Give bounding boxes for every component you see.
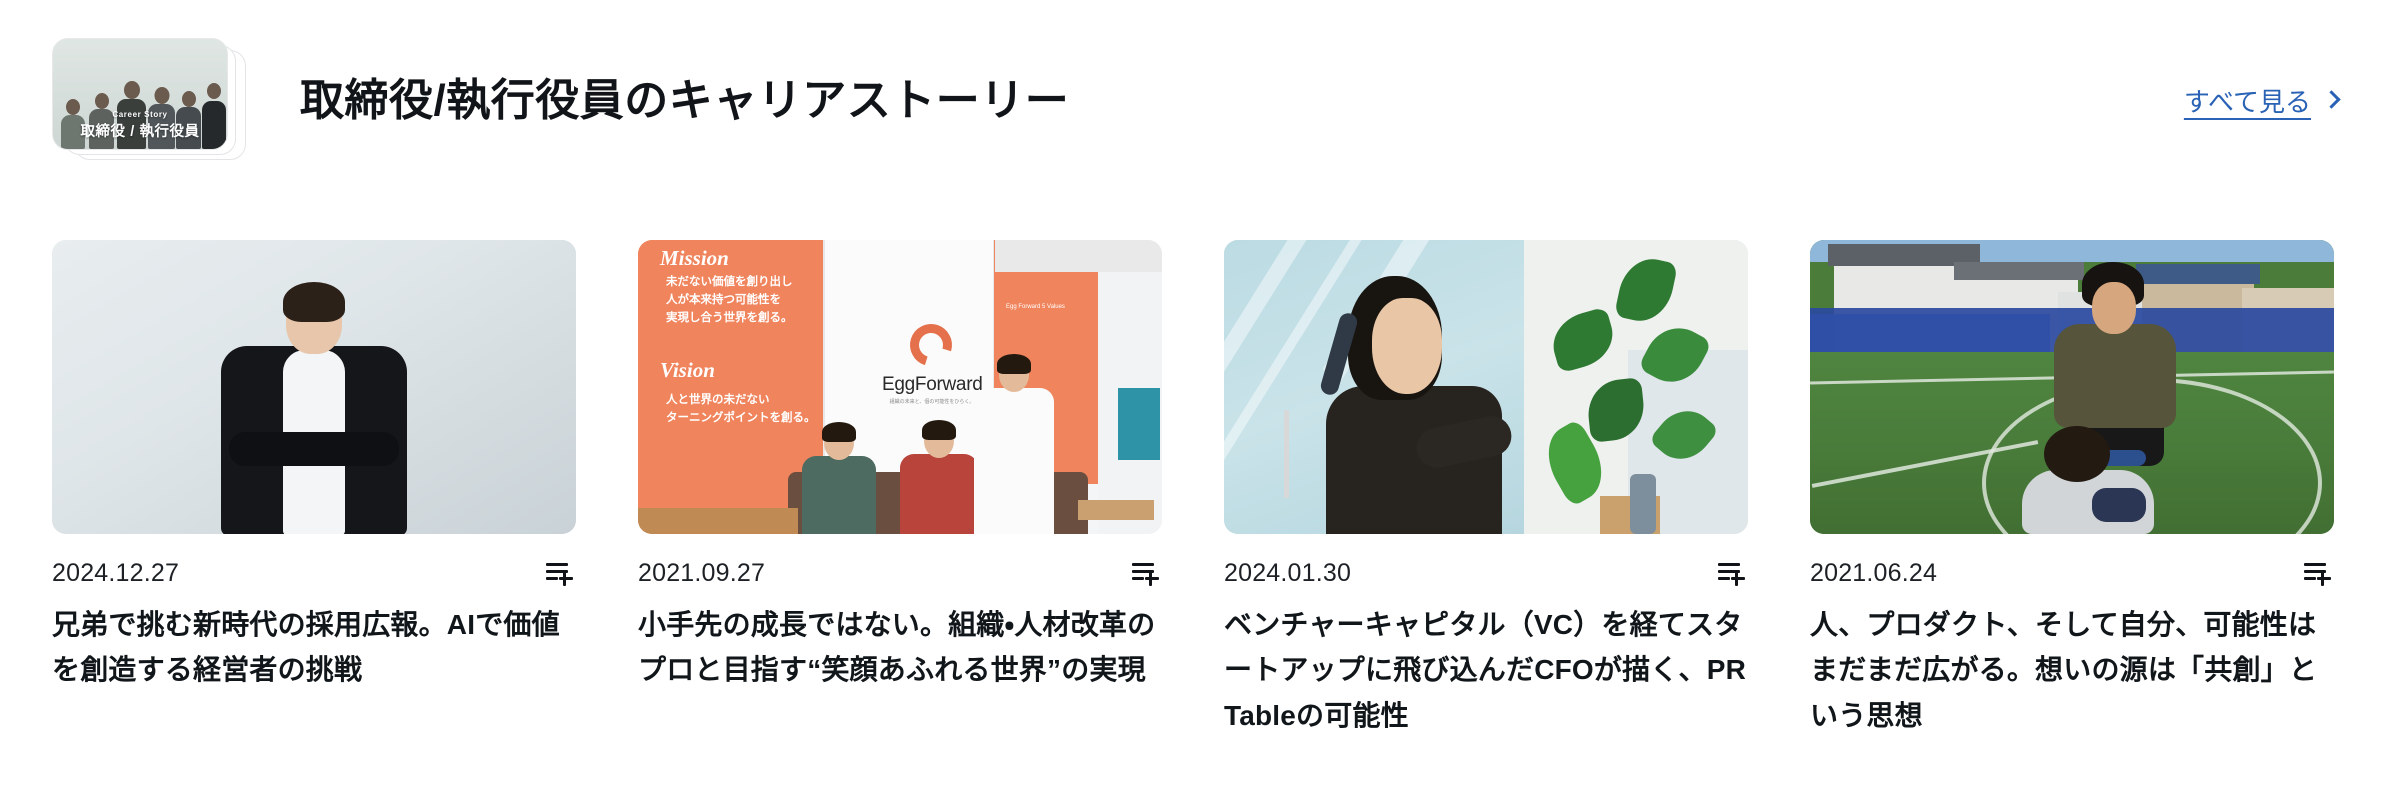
- values-label: Egg Forward 5 Values: [1006, 304, 1065, 310]
- article-title[interactable]: 人、プロダクト、そして自分、可能性はまだまだ広がる。想いの源は「共創」という思想: [1810, 602, 2334, 738]
- field-fence: [1810, 314, 2050, 356]
- article-card[interactable]: 2021.06.24 人、プロダクト、そして自分、可能性はまだまだ広がる。想いの…: [1810, 240, 2334, 738]
- thumbnail-label-left: 取締役: [81, 124, 126, 140]
- table-front: [638, 508, 798, 534]
- teal-panel: [1118, 388, 1160, 460]
- eggforward-logo-text: EggForward: [882, 374, 982, 396]
- article-thumbnail[interactable]: [1224, 240, 1748, 534]
- article-card[interactable]: 2024.12.27 兄弟で挑む新時代の採用広報。AIで価値を創造する経営者の挑…: [52, 240, 576, 738]
- article-card[interactable]: Mission 未だない価値を創り出し 人が本来持つ可能性を 実現し合う世界を創…: [638, 240, 1162, 738]
- article-meta: 2021.06.24: [1810, 558, 2334, 588]
- article-meta: 2024.12.27: [52, 558, 576, 588]
- chevron-right-icon: [2322, 90, 2340, 108]
- speaker-photo: [1224, 240, 1748, 534]
- soccer-field-photo: [1810, 240, 2334, 534]
- article-title[interactable]: 兄弟で挑む新時代の採用広報。AIで価値を創造する経営者の挑戦: [52, 602, 576, 693]
- vision-heading: Vision: [660, 358, 715, 383]
- see-all-link[interactable]: すべて見る: [2184, 82, 2338, 119]
- portrait-photo: [52, 240, 576, 534]
- toddler-figure: [2022, 426, 2154, 534]
- playlist-add-icon[interactable]: [1718, 561, 1748, 585]
- ceiling: [995, 240, 1162, 272]
- article-meta: 2021.09.27: [638, 558, 1162, 588]
- vision-body: 人と世界の未だない ターニングポイントを創る。: [666, 392, 816, 428]
- article-card-grid: 2024.12.27 兄弟で挑む新時代の採用広報。AIで価値を創造する経営者の挑…: [52, 240, 2338, 738]
- article-date: 2024.12.27: [52, 559, 179, 588]
- lanyard: [1284, 410, 1289, 498]
- section-thumbnail: Career Story 取締役/執行役員: [52, 38, 248, 162]
- page-title: 取締役/執行役員のキャリアストーリー: [300, 73, 1069, 128]
- person-figure: [900, 424, 978, 534]
- corridor: [1098, 240, 1162, 534]
- article-card[interactable]: 2024.01.30 ベンチャーキャピタル（VC）を経てスタートアップに飛び込ん…: [1224, 240, 1748, 738]
- arms-shape: [229, 432, 399, 466]
- podium-microphone: [1630, 474, 1656, 534]
- career-story-section: Career Story 取締役/執行役員 取締役/執行役員のキャリアストーリー…: [0, 0, 2390, 806]
- article-title[interactable]: ベンチャーキャピタル（VC）を経てスタートアップに飛び込んだCFOが描く、PR …: [1224, 602, 1748, 738]
- person-figure: [209, 282, 419, 534]
- thumbnail-eyebrow: Career Story: [53, 110, 227, 119]
- thumbnail-cover: Career Story 取締役/執行役員: [52, 38, 228, 150]
- thumbnail-caption: Career Story 取締役/執行役員: [53, 110, 227, 141]
- see-all-label: すべて見る: [2184, 82, 2311, 119]
- playlist-add-icon[interactable]: [546, 561, 576, 585]
- hair-shape: [283, 282, 345, 322]
- article-thumbnail[interactable]: Mission 未だない価値を創り出し 人が本来持つ可能性を 実現し合う世界を創…: [638, 240, 1162, 534]
- thumbnail-label-right: 執行役員: [140, 124, 200, 140]
- eggforward-logo-tagline: 組織の未来と、個の可能性をひらく。: [882, 398, 982, 405]
- table-right: [1078, 500, 1154, 520]
- article-thumbnail[interactable]: [1810, 240, 2334, 534]
- playlist-add-icon[interactable]: [1132, 561, 1162, 585]
- article-meta: 2024.01.30: [1224, 558, 1748, 588]
- article-date: 2021.06.24: [1810, 559, 1937, 588]
- thumbnail-label: 取締役/執行役員: [53, 120, 227, 141]
- article-title[interactable]: 小手先の成長ではない。組織・人材改革のプロと目指す“笑顔あふれる世界”の実現: [638, 602, 1162, 693]
- thumbnail-label-separator: /: [126, 124, 140, 140]
- mission-body: 未だない価値を創り出し 人が本来持つ可能性を 実現し合う世界を創る。: [666, 274, 793, 327]
- mission-heading: Mission: [660, 246, 729, 271]
- person-figure: [802, 426, 876, 534]
- office-photo: Mission 未だない価値を創り出し 人が本来持つ可能性を 実現し合う世界を創…: [638, 240, 1162, 534]
- person-figure: [974, 358, 1054, 534]
- section-header: Career Story 取締役/執行役員 取締役/執行役員のキャリアストーリー…: [0, 0, 2390, 200]
- article-thumbnail[interactable]: [52, 240, 576, 534]
- playlist-add-icon[interactable]: [2304, 561, 2334, 585]
- article-date: 2021.09.27: [638, 559, 765, 588]
- article-date: 2024.01.30: [1224, 559, 1351, 588]
